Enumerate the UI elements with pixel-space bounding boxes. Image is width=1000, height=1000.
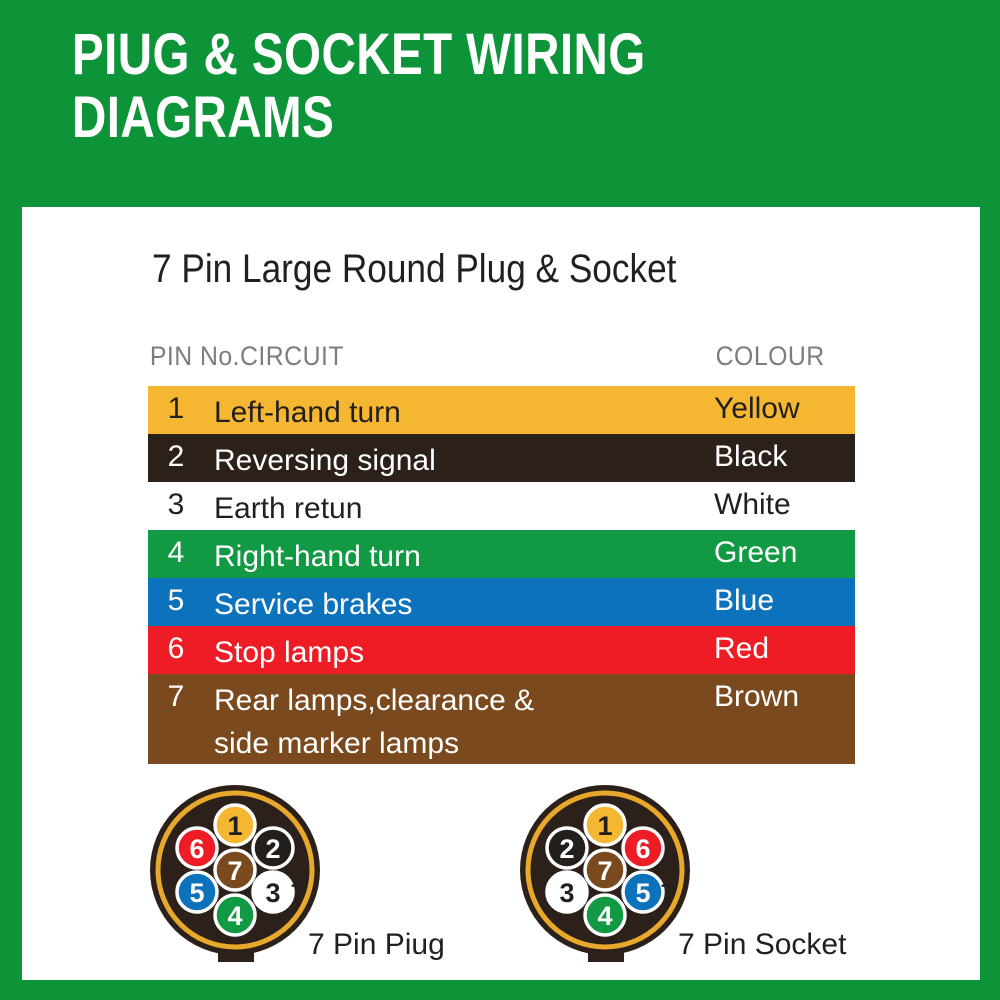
- table-row: 3Earth retunWhite: [148, 482, 855, 530]
- pin-5: 5: [623, 872, 663, 912]
- wiring-table: PIN No.CIRCUIT COLOUR 1Left-hand turnYel…: [148, 341, 855, 764]
- pin-4: 4: [585, 895, 625, 935]
- socket-corner-label: 7: [660, 878, 678, 915]
- table-body: 1Left-hand turnYellow2Reversing signalBl…: [148, 386, 855, 764]
- pin-4-label: 4: [227, 901, 242, 931]
- infographic-page: PIUG & SOCKET WIRING DIAGRAMS 7 Pin Larg…: [0, 0, 1000, 1000]
- pin-7-label: 7: [227, 856, 242, 886]
- pin-7-label: 7: [597, 856, 612, 886]
- cell-pin-number: 1: [162, 392, 190, 426]
- pin-1: 1: [585, 805, 625, 845]
- table-header-row: PIN No.CIRCUIT COLOUR: [148, 341, 798, 386]
- cell-pin-number: 2: [162, 440, 190, 474]
- pin-2-label: 2: [559, 834, 574, 864]
- cell-wire-colour: Yellow: [714, 392, 800, 426]
- cell-circuit-description: Stop lamps: [214, 632, 364, 675]
- pin-1: 1: [215, 805, 255, 845]
- pin-6-label: 6: [189, 834, 204, 864]
- pin-4: 4: [215, 895, 255, 935]
- cell-wire-colour: White: [714, 488, 791, 522]
- cell-pin-number: 5: [162, 584, 190, 618]
- plug-connector-diagram: 1234567 7 7 Pin Piug: [150, 778, 330, 974]
- cell-pin-number: 7: [162, 680, 190, 714]
- pin-2-label: 2: [265, 834, 280, 864]
- socket-connector-graphic: 1234567: [520, 778, 700, 974]
- pin-6-label: 6: [635, 834, 650, 864]
- pin-7: 7: [585, 850, 625, 890]
- pin-3-label: 3: [559, 878, 574, 908]
- table-row: 7Rear lamps,clearance & side marker lamp…: [148, 674, 855, 764]
- cell-pin-number: 6: [162, 632, 190, 666]
- cell-circuit-description: Right-hand turn: [214, 536, 421, 579]
- plug-corner-label: 7: [290, 878, 308, 915]
- cell-circuit-description: Left-hand turn: [214, 392, 401, 435]
- pin-7: 7: [215, 850, 255, 890]
- pin-2: 2: [253, 828, 293, 868]
- pin-6: 6: [177, 828, 217, 868]
- table-row: 2Reversing signalBlack: [148, 434, 855, 482]
- table-row: 4Right-hand turnGreen: [148, 530, 855, 578]
- diagram-subtitle: 7 Pin Large Round Plug & Socket: [152, 247, 676, 292]
- table-row: 6Stop lampsRed: [148, 626, 855, 674]
- plug-caption: 7 Pin Piug: [308, 928, 445, 962]
- cell-pin-number: 3: [162, 488, 190, 522]
- table-row: 1Left-hand turnYellow: [148, 386, 855, 434]
- cell-wire-colour: Red: [714, 632, 769, 666]
- page-title: PIUG & SOCKET WIRING DIAGRAMS: [72, 24, 794, 149]
- cell-wire-colour: Brown: [714, 680, 799, 714]
- pin-3-label: 3: [265, 878, 280, 908]
- pin-5: 5: [177, 872, 217, 912]
- column-header-pin-circuit: PIN No.CIRCUIT: [150, 341, 344, 372]
- cell-wire-colour: Green: [714, 536, 797, 570]
- cell-wire-colour: Blue: [714, 584, 774, 618]
- pin-5-label: 5: [635, 878, 650, 908]
- pin-3: 3: [547, 872, 587, 912]
- table-row: 5Service brakesBlue: [148, 578, 855, 626]
- pin-1-label: 1: [597, 811, 612, 841]
- cell-circuit-description: Rear lamps,clearance & side marker lamps: [214, 680, 534, 765]
- pin-5-label: 5: [189, 878, 204, 908]
- socket-connector-diagram: 1234567 7 7 Pin Socket: [520, 778, 700, 974]
- header-band: PIUG & SOCKET WIRING DIAGRAMS: [0, 0, 1000, 207]
- plug-body: 1234567: [150, 778, 330, 974]
- pin-1-label: 1: [227, 811, 242, 841]
- socket-body: 1234567: [520, 778, 700, 974]
- pin-6: 6: [623, 828, 663, 868]
- pin-2: 2: [547, 828, 587, 868]
- cell-circuit-description: Service brakes: [214, 584, 412, 627]
- cell-circuit-description: Reversing signal: [214, 440, 436, 483]
- pin-3: 3: [253, 872, 293, 912]
- socket-caption: 7 Pin Socket: [678, 928, 846, 962]
- cell-wire-colour: Black: [714, 440, 787, 474]
- cell-pin-number: 4: [162, 536, 190, 570]
- column-header-colour: COLOUR: [716, 341, 825, 372]
- pin-4-label: 4: [597, 901, 612, 931]
- cell-circuit-description: Earth retun: [214, 488, 362, 531]
- plug-connector-graphic: 1234567: [150, 778, 330, 974]
